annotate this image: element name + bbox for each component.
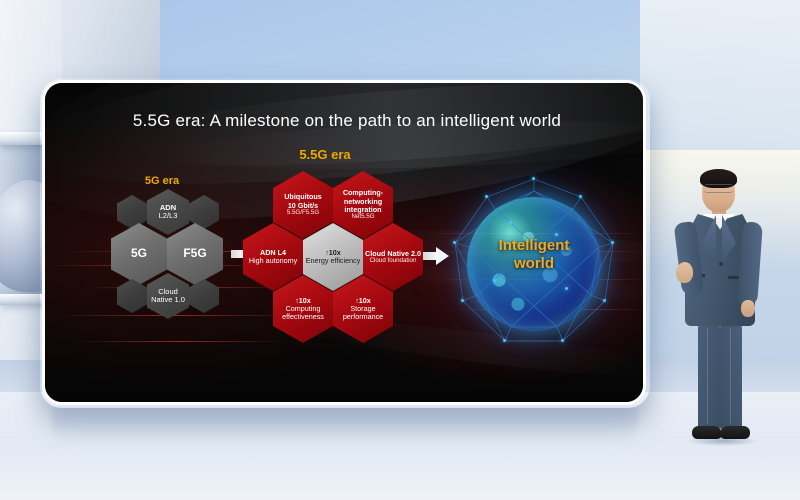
hex-ubiquitous-line3: 5.5G/F5.5G [284,210,322,217]
hex-f5g-label: F5G [183,247,206,260]
presenter-leg-left [698,324,720,430]
hex-5g-label: 5G [131,247,147,260]
hex-adn-l2-l3-line2: L2/L3 [159,212,178,220]
globe-label-line1: Intelligent [445,237,623,255]
globe-label-line2: world [445,255,623,273]
hex-cloud-native-1-0-line2: Native 1.0 [151,296,185,304]
hex-compnet-line4: Net5.5G [343,214,383,221]
era-5g-label: 5G era [107,175,217,187]
hex-energy-line2: Energy efficiency [306,257,361,265]
presenter-shoe-left [692,426,722,439]
presenter-glasses [704,184,733,193]
display-panel-floor-reflection [52,408,638,442]
screenshot-stage: 5.5G era: A milestone on the path to an … [0,0,800,500]
presenter-trouser-crease-left [707,328,708,424]
intelligent-world-globe: Intelligent world [445,175,623,353]
hex-cloud2-line2: Cloud foundation [365,258,421,265]
hex-storage-line3: performance [343,313,383,321]
globe-label: Intelligent world [445,237,623,272]
presentation-display-panel: 5.5G era: A milestone on the path to an … [42,80,646,405]
slide-title: 5.5G era: A milestone on the path to an … [45,111,646,131]
presenter-jacket-button [719,262,723,266]
hex-compeff-line3: effectiveness [282,313,324,321]
era-55g-label: 5.5G era [245,147,405,162]
presenter-hand-right [741,300,755,317]
presenter-trouser-crease-right [730,328,731,424]
presenter [672,170,768,448]
presenter-shoe-right [720,426,750,439]
presenter-hand-left-gesture [676,262,693,283]
hex-adn-l4-line2: High autonomy [249,257,297,265]
